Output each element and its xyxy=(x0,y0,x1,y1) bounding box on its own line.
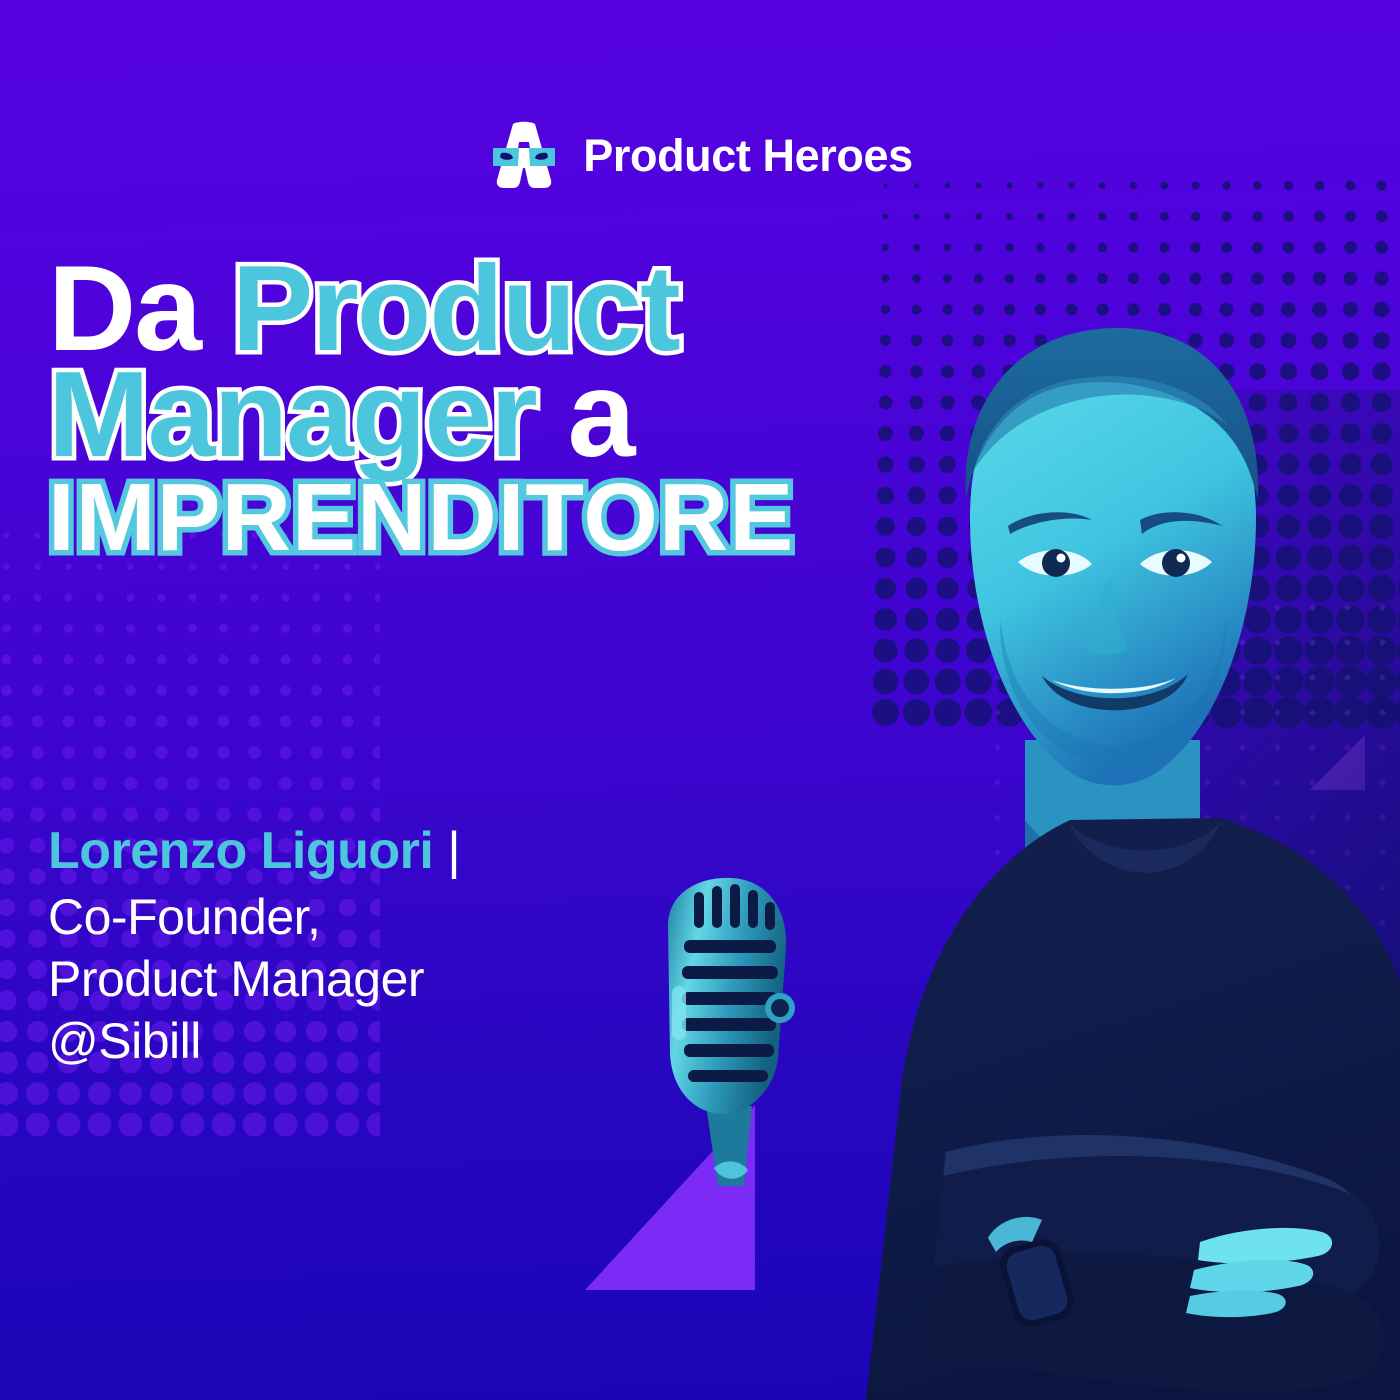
title-word-manager: Manager xyxy=(48,346,536,482)
speaker-name-divider: | xyxy=(447,822,460,880)
speaker-name-line: Lorenzo Liguori | xyxy=(48,822,608,880)
brand-name: Product Heroes xyxy=(583,133,912,178)
title-line-2: Manager a xyxy=(48,358,968,470)
speaker-role-line-3: @Sibill xyxy=(48,1010,608,1072)
product-heroes-masked-a-logo-icon xyxy=(487,118,561,192)
speaker-name: Lorenzo Liguori xyxy=(48,822,433,880)
podcast-cover-artwork: Product Heroes Da Product Manager a IMPR… xyxy=(0,0,1400,1400)
title-word-a: a xyxy=(568,346,634,482)
speaker-role: Co-Founder, Product Manager @Sibill xyxy=(48,886,608,1072)
speaker-role-line-2: Product Manager xyxy=(48,948,608,1010)
vintage-microphone-icon xyxy=(628,868,818,1198)
speaker-info: Lorenzo Liguori | Co-Founder, Product Ma… xyxy=(48,822,608,1072)
episode-title: Da Product Manager a IMPRENDITORE xyxy=(48,252,968,563)
title-line-3: IMPRENDITORE xyxy=(48,474,968,562)
title-word-imprenditore: IMPRENDITORE xyxy=(48,464,794,571)
speaker-role-line-1: Co-Founder, xyxy=(48,886,608,948)
brand-header: Product Heroes xyxy=(0,118,1400,192)
